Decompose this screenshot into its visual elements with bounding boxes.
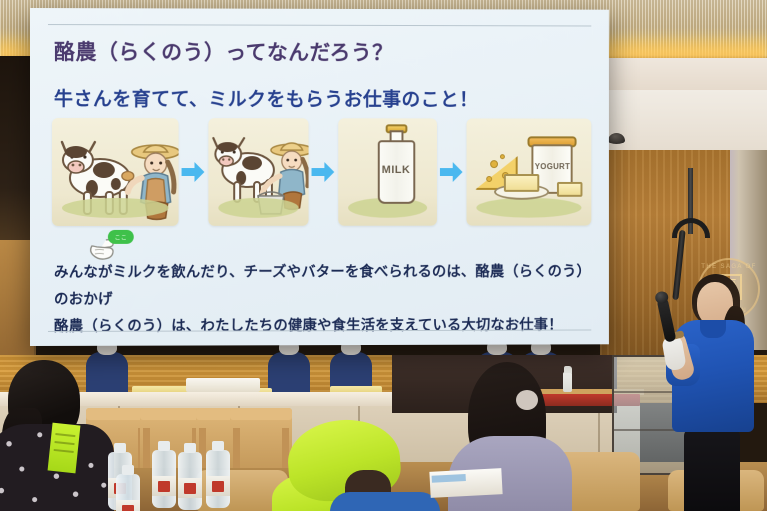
upper-right-ceiling: [600, 90, 767, 150]
slide-body: みんながミルクを飲んだり、チーズやバターを食べられるのは、酪農（らくのう）のおか…: [54, 259, 589, 340]
wooden-stool: [230, 408, 292, 468]
cheese-hole: [500, 154, 505, 159]
bottle-label: [152, 476, 176, 496]
stool-seat: [230, 408, 292, 420]
child-body: [330, 492, 440, 511]
spray-bottle: [563, 372, 572, 392]
green-name-tag: [48, 423, 81, 474]
illustration-row: MILK YOGURT: [52, 116, 591, 228]
panel-milking: [208, 118, 308, 226]
slide: 酪農（らくのう）ってなんだろう？ 牛さんを育てて、ミルクをもらうお仕事のこと！: [30, 8, 609, 346]
bottle-label: [116, 500, 140, 511]
screenshot-root: THE SAGA OF 厨 KITCHEN: [0, 0, 767, 511]
arrow-1: [178, 161, 208, 183]
slide-subtitle: 牛さんを育てて、ミルクをもらうお仕事のこと！: [54, 84, 478, 111]
slide-body-line-2: 酪農（らくのう）は、わたしたちの健康や食生活を支えている大切なお仕事！: [54, 312, 589, 340]
grass-patch: [477, 198, 582, 218]
bottle-mark: [212, 481, 224, 492]
security-camera-icon: [608, 133, 625, 144]
emblem-arc-top-text: THE SAGA OF: [701, 264, 757, 270]
bottle-label: [206, 476, 230, 496]
yogurt-label: YOGURT: [532, 162, 573, 171]
bottle-mark: [158, 481, 170, 492]
tag-line: [54, 449, 74, 453]
paper-accent: [432, 474, 466, 483]
stool-seat: [140, 408, 202, 420]
arrow-3: [437, 161, 467, 183]
presenter-legs: [684, 428, 740, 511]
projection-screen: 酪農（らくのう）ってなんだろう？ 牛さんを育てて、ミルクをもらうお仕事のこと！: [30, 8, 609, 346]
milk-label: MILK: [377, 164, 415, 176]
panel-milk-bottle: MILK: [338, 118, 438, 225]
hand-bubble-text: ここ: [108, 233, 134, 242]
slide-title: 酪農（らくのう）ってなんだろう？: [54, 36, 393, 67]
stool-leg: [143, 428, 150, 468]
stool-seat: [86, 408, 148, 420]
tag-line: [54, 441, 74, 445]
water-bottle: [116, 474, 140, 511]
slide-body-line-1: みんながミルクを飲んだり、チーズやバターを食べられるのは、酪農（らくのう）のおか…: [54, 259, 589, 313]
hand-speech-bubble: ここ: [108, 230, 134, 244]
water-bottle: [178, 452, 202, 510]
water-bottle: [206, 450, 230, 508]
panel-raising-cow: [52, 118, 178, 226]
panel-dairy-products: YOGURT: [467, 118, 591, 225]
cheese-hole: [491, 160, 499, 168]
butter-stick-icon: [557, 182, 583, 197]
handout-papers: [429, 468, 502, 498]
arrow-2: [308, 161, 338, 183]
grass-patch: [218, 198, 298, 218]
bottle-label: [178, 478, 202, 498]
stool-leg: [233, 428, 240, 468]
presenter-collar: [700, 320, 726, 338]
bottle-mark: [122, 505, 134, 511]
slide-top-rule: [48, 24, 591, 26]
grass-patch: [62, 198, 168, 218]
tag-line: [55, 433, 75, 437]
bottle-mark: [184, 483, 196, 494]
water-bottle: [152, 450, 176, 508]
hair-scrunchie: [516, 390, 538, 410]
butter-block-icon: [504, 174, 539, 192]
plate-stack: [186, 378, 260, 392]
